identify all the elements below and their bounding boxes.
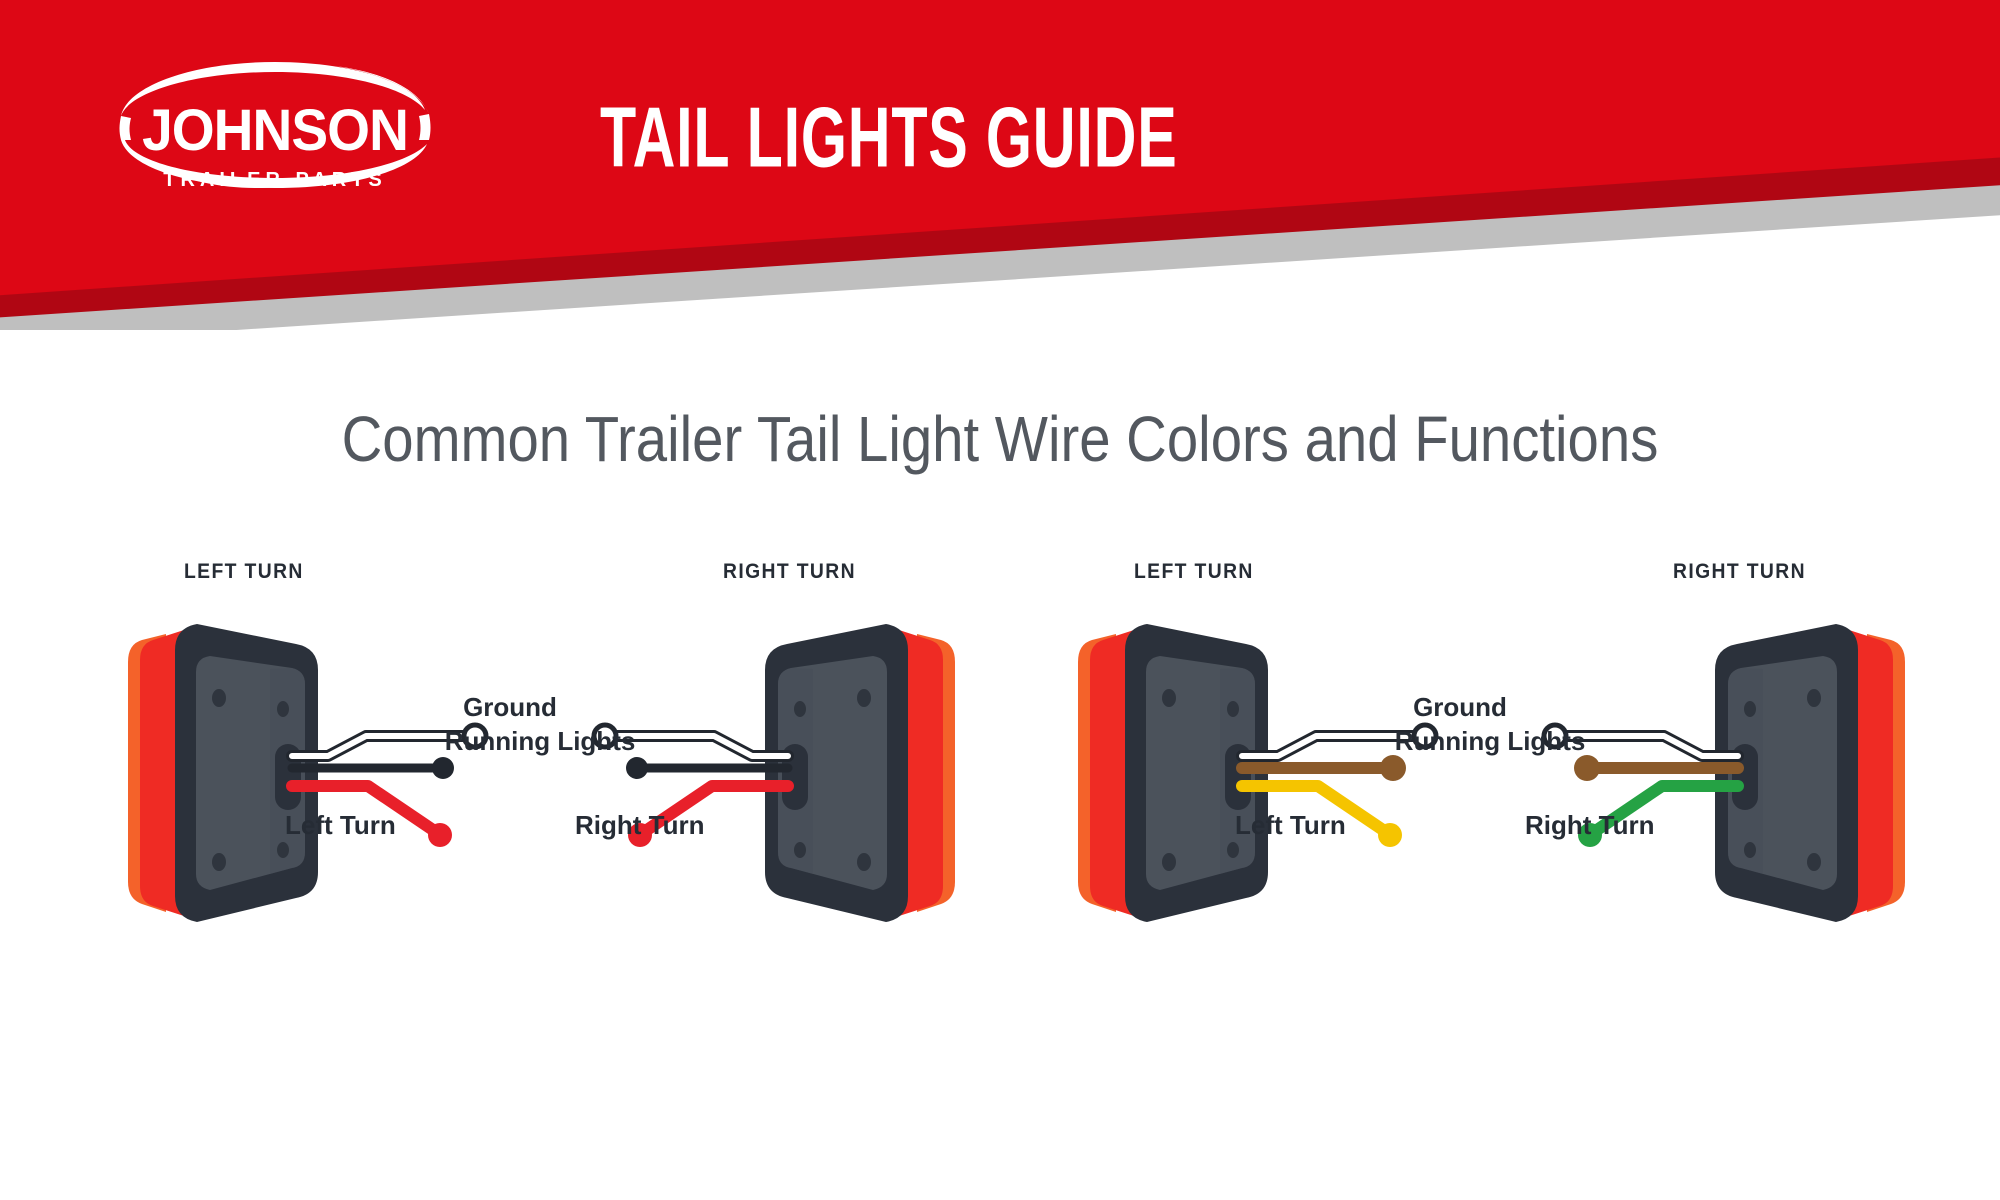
wire-harness-left-diagram <box>120 570 960 990</box>
header-title: TAIL LIGHTS GUIDE <box>600 96 1380 181</box>
diagram-3-wire-red: LEFT TURN RIGHT TURN <box>120 570 960 990</box>
johnson-trailer-parts-logo[interactable]: JOHNSON TRAILER PARTS <box>85 48 465 198</box>
diagrams-area: LEFT TURN RIGHT TURN <box>0 570 2000 990</box>
diagram-3-wire-color-coded: LEFT TURN RIGHT TURN <box>1070 570 1910 990</box>
wire-label-left-turn: Left Turn <box>1235 812 1346 838</box>
wire-label-ground: Ground <box>463 694 557 720</box>
tail-lights-guide-page: JOHNSON TRAILER PARTS TAIL LIGHTS GUIDE … <box>0 0 2000 1200</box>
logo-tagline: TRAILER PARTS <box>85 170 465 190</box>
page-header: JOHNSON TRAILER PARTS TAIL LIGHTS GUIDE <box>0 0 2000 330</box>
wire-harness-right-diagram <box>1070 570 1910 990</box>
wire-label-right-turn: Right Turn <box>575 812 704 838</box>
wire-label-ground: Ground <box>1413 694 1507 720</box>
wire-label-running: Running Lights <box>445 728 636 754</box>
logo-wordmark: JOHNSON <box>95 102 456 160</box>
page-title: Common Trailer Tail Light Wire Colors an… <box>120 404 1880 474</box>
wire-label-right-turn: Right Turn <box>1525 812 1654 838</box>
wire-label-left-turn: Left Turn <box>285 812 396 838</box>
wire-label-running: Running Lights <box>1395 728 1586 754</box>
